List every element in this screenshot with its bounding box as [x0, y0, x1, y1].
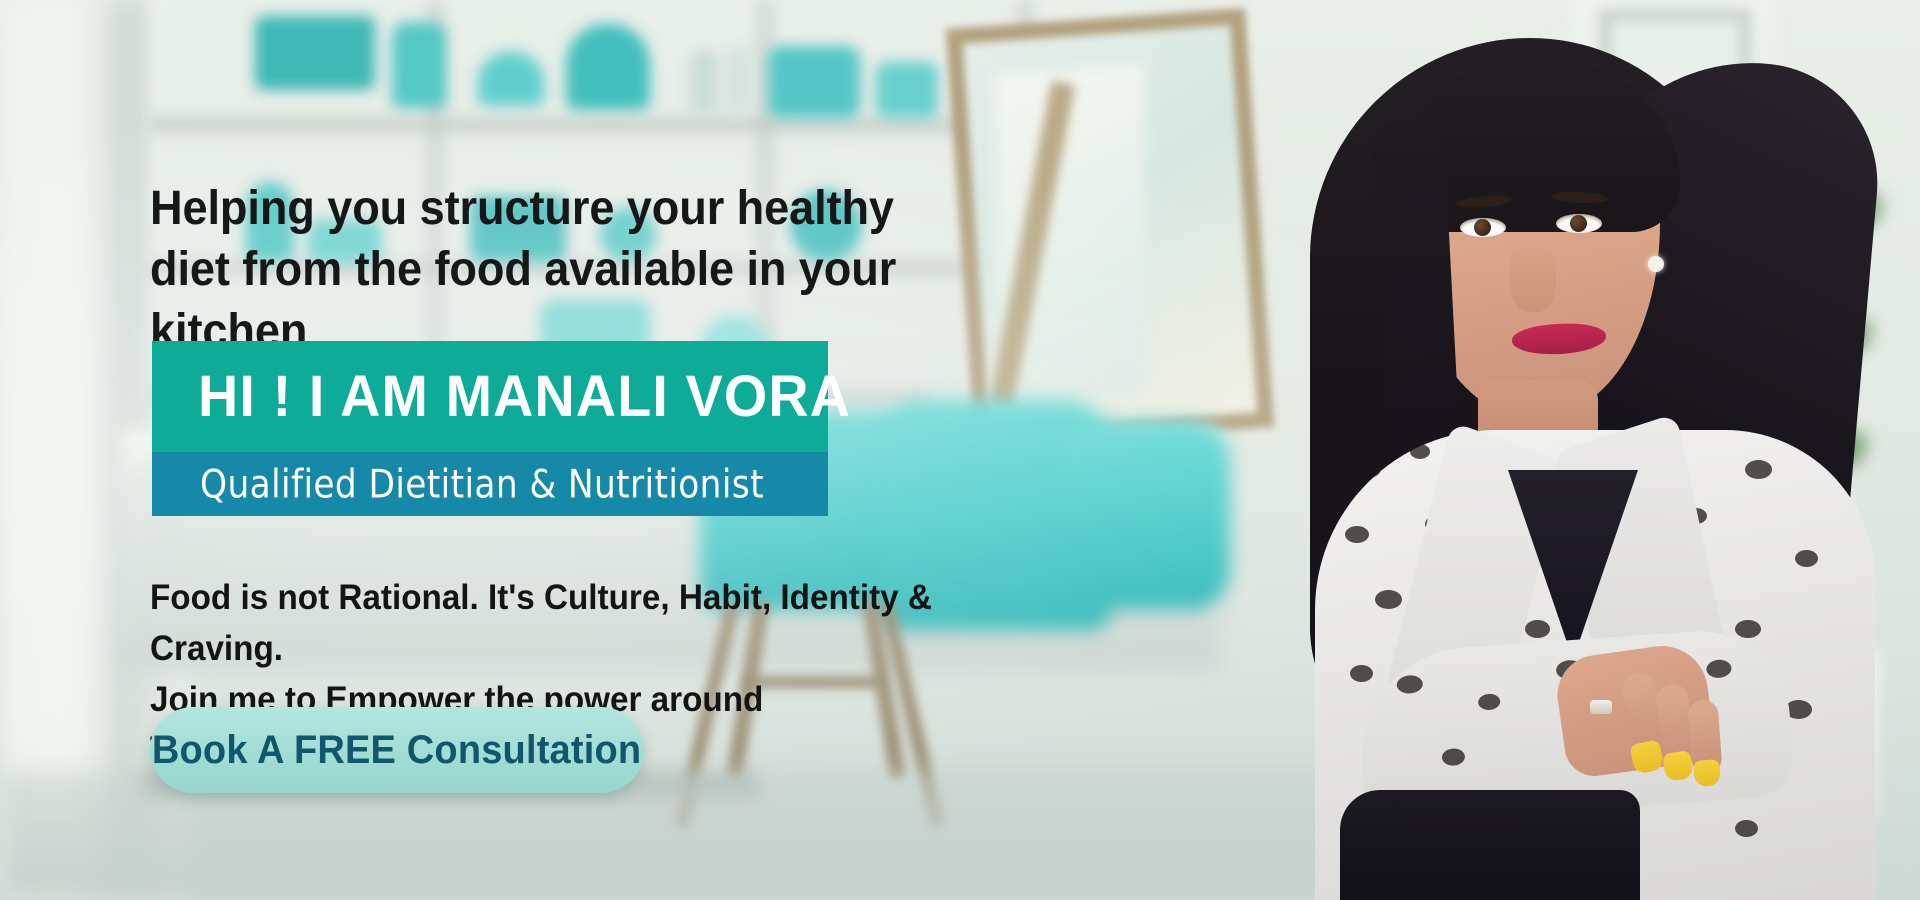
earring [1648, 256, 1664, 272]
tagline-line-1: Food is not Rational. It's Culture, Habi… [150, 573, 939, 675]
ring [1590, 700, 1612, 714]
nose [1510, 240, 1556, 312]
hero-content: Helping you structure your healthy diet … [0, 0, 1000, 900]
role-banner-label: Qualified Dietitian & Nutritionist [200, 461, 764, 507]
hero-banner: Helping you structure your healthy diet … [0, 0, 1920, 900]
book-consultation-label: Book A FREE Consultation [152, 728, 641, 773]
role-banner: Qualified Dietitian & Nutritionist [152, 452, 828, 516]
name-banner-label: HI ! I AM MANALI VORA [198, 363, 851, 430]
iris [1474, 219, 1491, 236]
skirt [1340, 790, 1640, 900]
name-banner: HI ! I AM MANALI VORA [152, 341, 828, 452]
book-consultation-button[interactable]: Book A FREE Consultation [150, 707, 644, 793]
page-headline: Helping you structure your healthy diet … [150, 178, 921, 362]
iris [1570, 215, 1587, 232]
portrait-photo [1160, 0, 1920, 900]
